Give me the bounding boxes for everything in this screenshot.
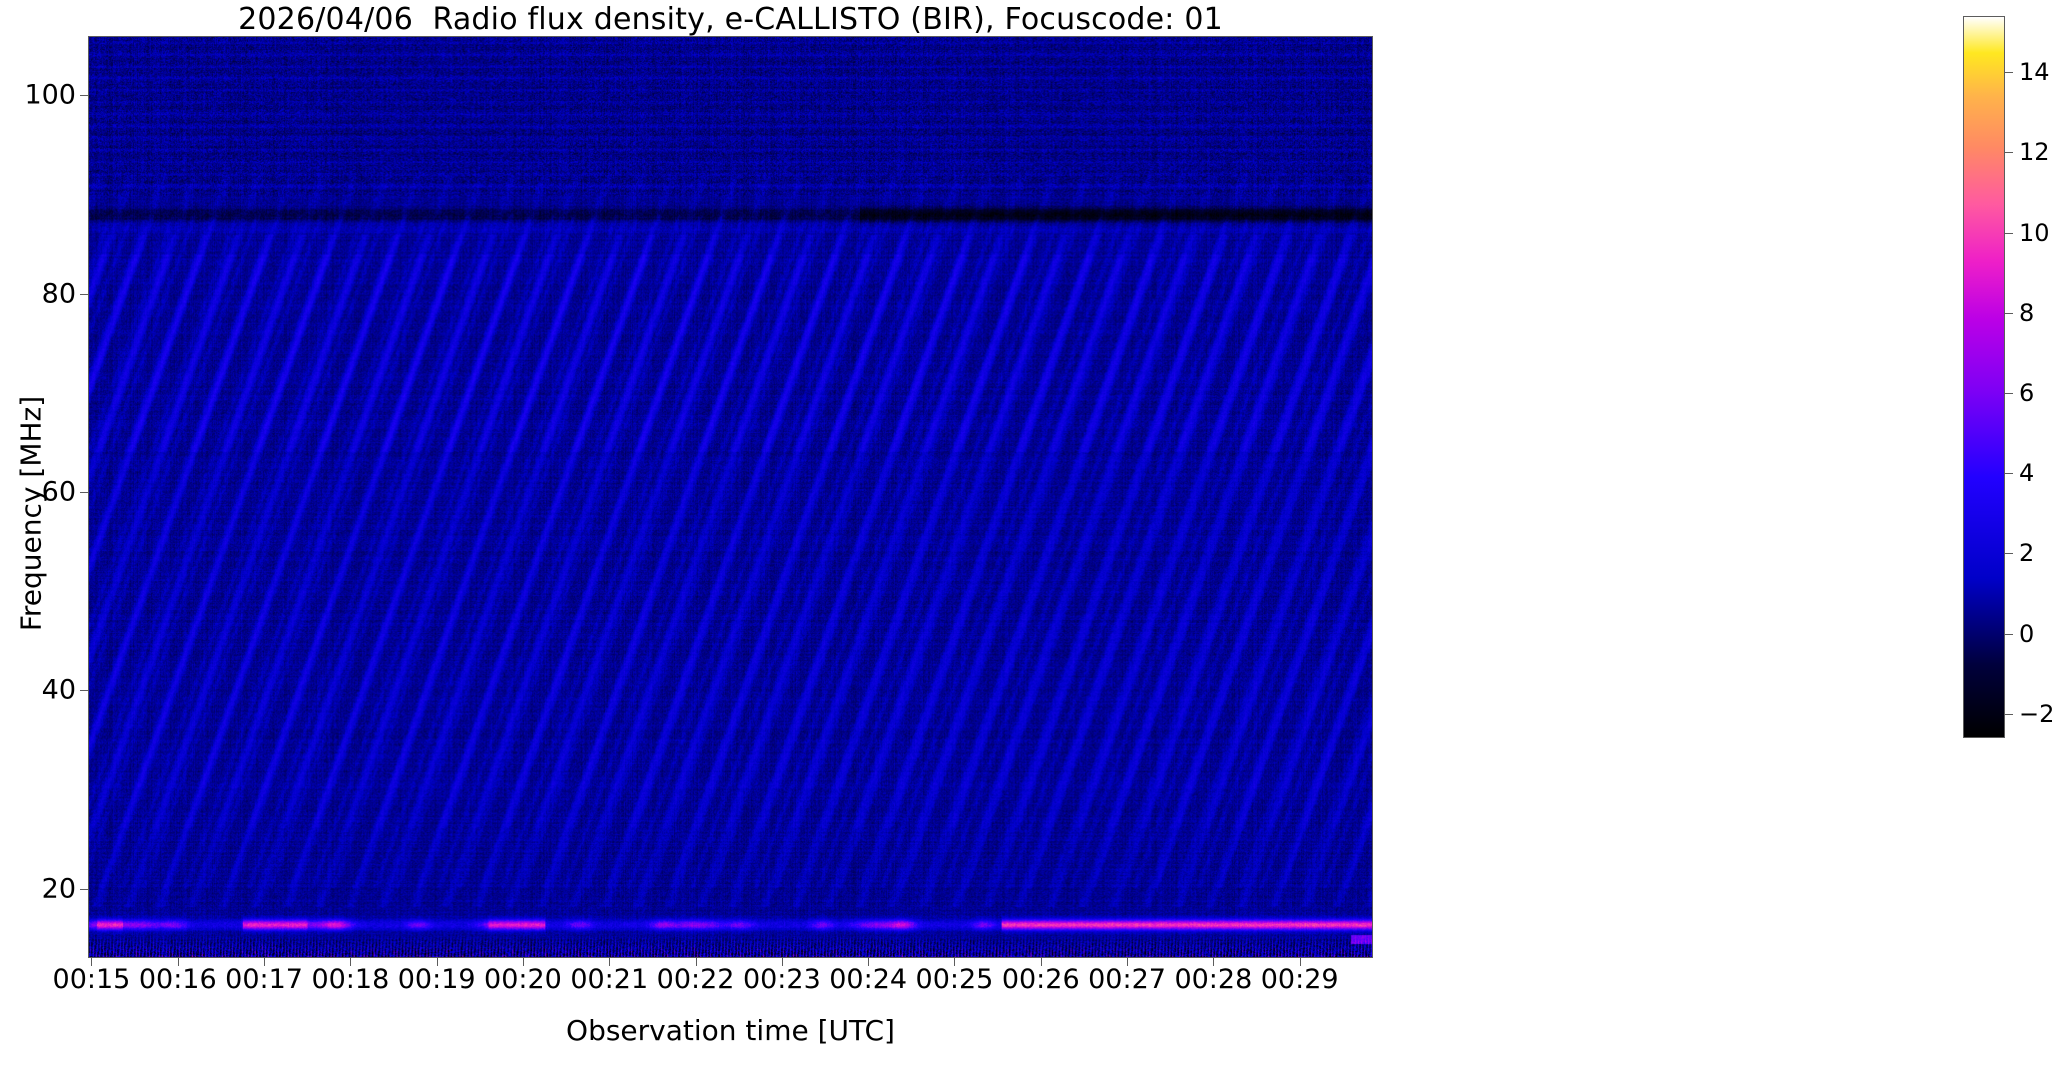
x-tick-mark xyxy=(868,958,869,966)
colorbar-tick-mark xyxy=(2005,313,2013,314)
figure-canvas: 2026/04/06 Radio flux density, e-CALLIST… xyxy=(0,0,2066,1067)
x-tick-label: 00:19 xyxy=(398,964,476,995)
x-tick-label: 00:24 xyxy=(829,964,907,995)
x-tick-label: 00:17 xyxy=(225,964,303,995)
x-tick-mark xyxy=(954,958,955,966)
colorbar-tick-mark xyxy=(2005,152,2013,153)
x-tick-label: 00:22 xyxy=(657,964,735,995)
x-tick-mark xyxy=(782,958,783,966)
colorbar-tick-mark xyxy=(2005,473,2013,474)
colorbar-tick-label: 10 xyxy=(2019,219,2050,247)
x-tick-mark xyxy=(264,958,265,966)
x-tick-label: 00:25 xyxy=(916,964,994,995)
x-tick-label: 00:29 xyxy=(1261,964,1339,995)
colorbar-tick-label: 0 xyxy=(2019,620,2034,648)
x-tick-mark xyxy=(178,958,179,966)
x-tick-mark xyxy=(1300,958,1301,966)
x-tick-label: 00:26 xyxy=(1002,964,1080,995)
colorbar-tick-label: 14 xyxy=(2019,58,2050,86)
x-tick-mark xyxy=(350,958,351,966)
x-tick-label: 00:15 xyxy=(53,964,131,995)
x-tick-mark xyxy=(523,958,524,966)
x-tick-mark xyxy=(91,958,92,966)
colorbar-tick-mark xyxy=(2005,714,2013,715)
colorbar-tick-mark xyxy=(2005,233,2013,234)
colorbar-tick-label: 4 xyxy=(2019,459,2034,487)
colorbar-tick-mark xyxy=(2005,393,2013,394)
colorbar[interactable]: 14121086420−2 xyxy=(1963,16,2005,738)
x-tick-label: 00:20 xyxy=(484,964,562,995)
x-tick-mark xyxy=(1213,958,1214,966)
x-tick-mark xyxy=(696,958,697,966)
colorbar-tick-label: 8 xyxy=(2019,299,2034,327)
x-tick-label: 00:27 xyxy=(1088,964,1166,995)
x-tick-label: 00:28 xyxy=(1174,964,1252,995)
x-tick-mark xyxy=(1041,958,1042,966)
x-tick-label: 00:23 xyxy=(743,964,821,995)
colorbar-tick-mark xyxy=(2005,634,2013,635)
x-tick-mark xyxy=(437,958,438,966)
colorbar-tick-mark xyxy=(2005,553,2013,554)
colorbar-tick-label: 12 xyxy=(2019,138,2050,166)
colorbar-tick-label: 2 xyxy=(2019,539,2034,567)
x-tick-label: 00:18 xyxy=(311,964,389,995)
colorbar-tick-mark xyxy=(2005,72,2013,73)
x-tick-label: 00:16 xyxy=(139,964,217,995)
colorbar-tick-label: −2 xyxy=(2019,700,2054,728)
colorbar-tick-label: 6 xyxy=(2019,379,2034,407)
x-axis: 00:1500:1600:1700:1800:1900:2000:2100:22… xyxy=(0,0,2066,1067)
x-tick-mark xyxy=(609,958,610,966)
x-tick-mark xyxy=(1127,958,1128,966)
x-axis-label: Observation time [UTC] xyxy=(88,1014,1373,1047)
x-tick-label: 00:21 xyxy=(570,964,648,995)
colorbar-gradient xyxy=(1963,16,2005,738)
